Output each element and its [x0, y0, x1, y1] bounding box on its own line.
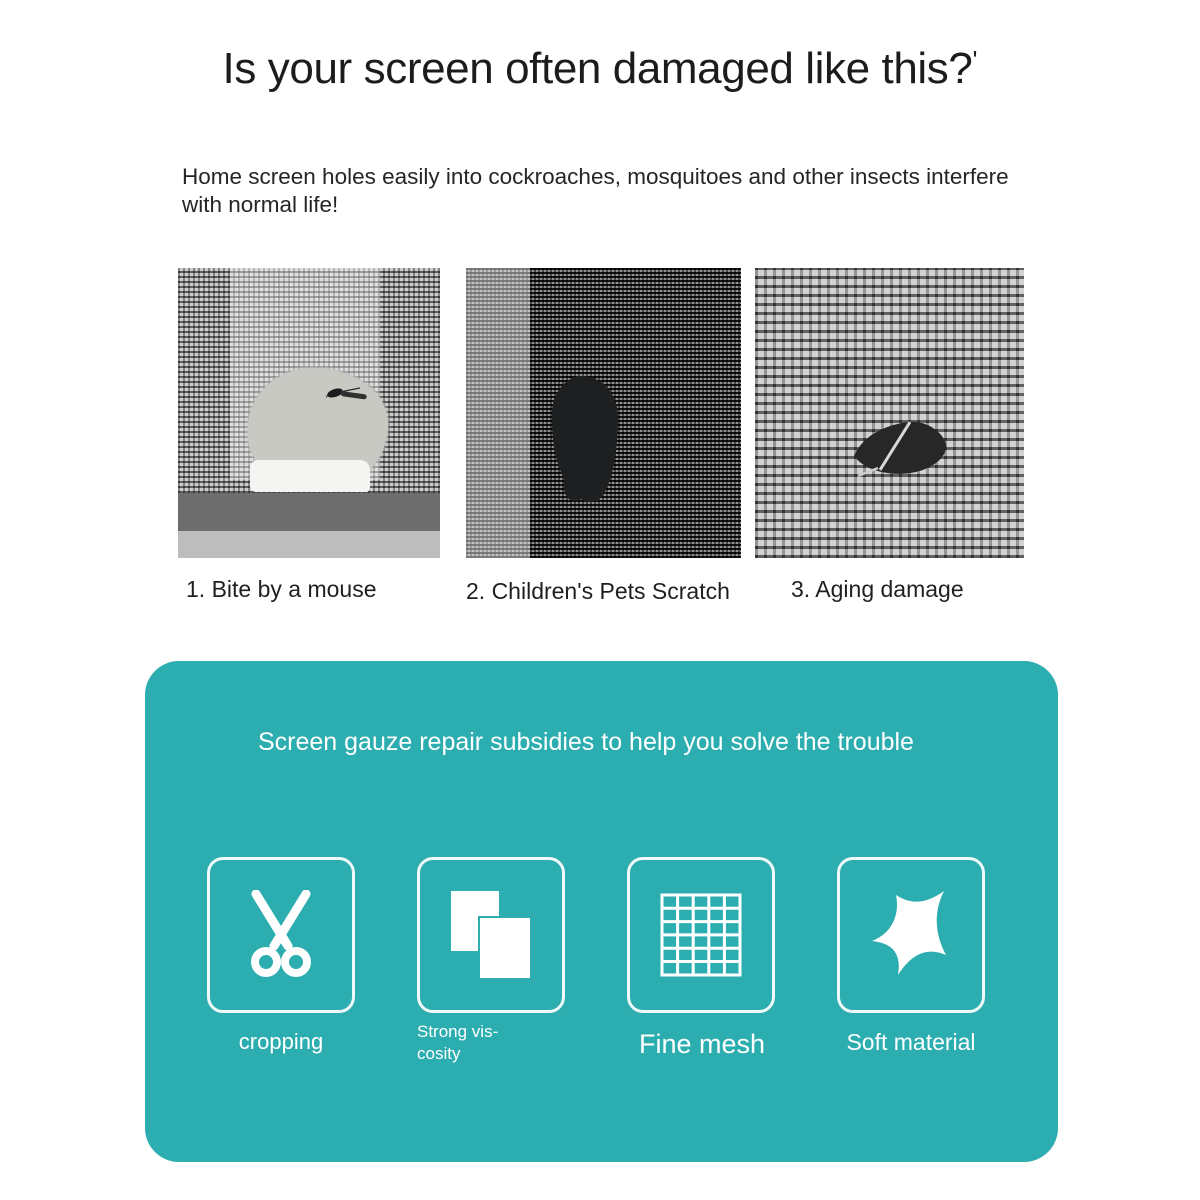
window-frame-band — [466, 268, 530, 558]
overlapping-squares-icon — [445, 887, 537, 983]
photo-caption-3: 3. Aging damage — [791, 576, 964, 603]
window-glare — [250, 460, 370, 492]
feature-label: Soft material — [827, 1029, 995, 1056]
feature-list: cropping Strong vis- cosity — [145, 857, 1058, 1117]
feature-item-soft-material[interactable]: Soft material — [837, 857, 997, 1056]
photo-caption-1: 1. Bite by a mouse — [186, 576, 377, 603]
page-subtitle: Home screen holes easily into cockroache… — [182, 163, 1030, 219]
feature-icon-box — [207, 857, 355, 1013]
feature-item-fine-mesh[interactable]: Fine mesh — [627, 857, 787, 1060]
benefits-panel-heading: Screen gauze repair subsidies to help yo… — [258, 726, 918, 759]
feature-label-line2: cosity — [417, 1044, 460, 1063]
feature-item-viscosity[interactable]: Strong vis- cosity — [417, 857, 577, 1065]
damage-photo-1 — [178, 268, 440, 558]
damage-photo-2 — [466, 268, 741, 558]
window-sill-dark — [178, 493, 440, 531]
soft-cloth-icon — [868, 889, 954, 981]
page-title-trailing-mark: ' — [972, 45, 977, 75]
page-title-text: Is your screen often damaged like this? — [223, 44, 973, 93]
photo-caption-2: 2. Children's Pets Scratch — [466, 578, 730, 605]
feature-label: Strong vis- cosity — [417, 1021, 537, 1065]
window-sill-light — [178, 531, 440, 558]
damage-photo-row — [178, 268, 1024, 558]
feature-label: Fine mesh — [617, 1029, 787, 1060]
scissors-icon — [242, 890, 320, 980]
damage-photo-3 — [755, 268, 1024, 558]
page-title: Is your screen often damaged like this?' — [0, 44, 1200, 94]
benefits-panel: Screen gauze repair subsidies to help yo… — [145, 661, 1058, 1162]
feature-label: cropping — [207, 1029, 355, 1055]
feature-icon-box — [417, 857, 565, 1013]
feature-icon-box — [837, 857, 985, 1013]
feature-item-cropping[interactable]: cropping — [207, 857, 367, 1055]
mesh-tear-shape — [850, 416, 950, 478]
feature-label-line1: Strong vis- — [417, 1022, 498, 1041]
mosquito-icon — [326, 386, 374, 402]
feature-icon-box — [627, 857, 775, 1013]
screen-mesh-texture — [755, 268, 1024, 558]
grid-mesh-icon — [660, 893, 742, 977]
